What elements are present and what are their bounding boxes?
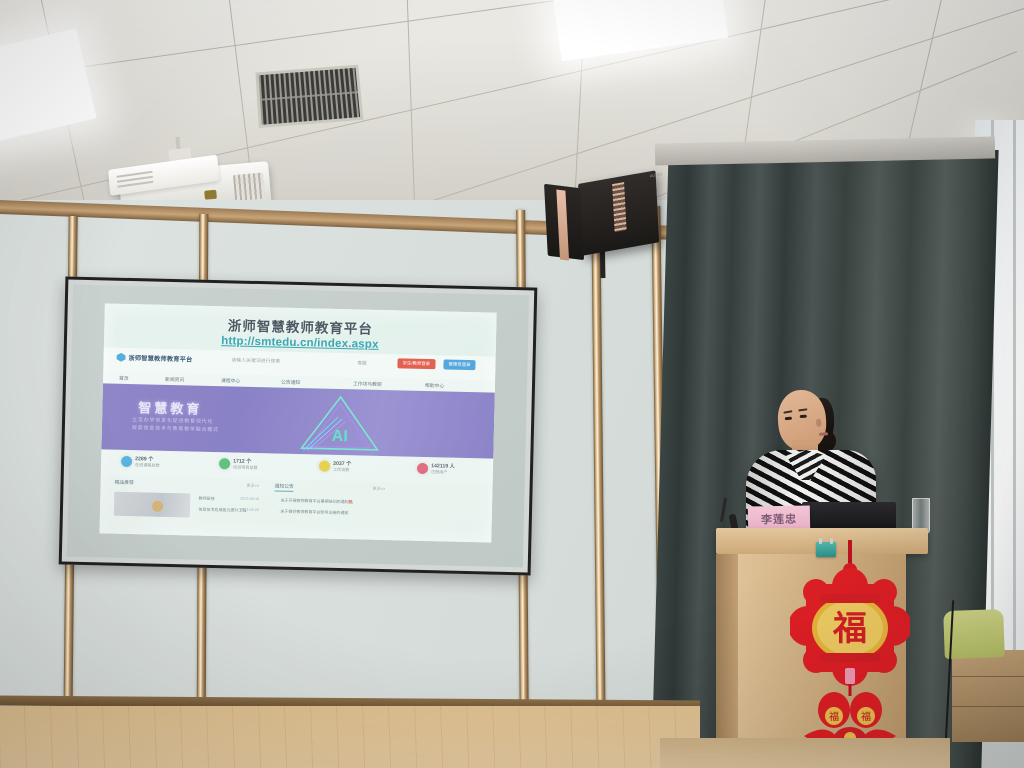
stat-item-1: 1712 个培训项目总数 [219,457,258,471]
news-text-2[interactable]: · 关于做好教师教育平台账号注册的通知 [278,509,349,517]
more-link-right[interactable]: 更多>> [372,486,385,492]
fu-character: 福 [832,609,867,649]
site-menu-item-0[interactable]: 首页 [119,374,129,381]
speaker-grille-icon [612,182,626,232]
stat-label-1: 培训项目总数 [233,464,258,471]
site-search-field[interactable]: 请输入关键词进行搜索 [231,357,280,364]
recommend-caption-1[interactable]: · 教师研修 [196,496,215,502]
notice-heading: 通知公告 [274,482,293,491]
site-logo-icon [116,353,125,362]
stat-item-3: 142119 人注册用户 [417,462,455,476]
stat-text-0: 2289 个在线课程总数 [135,455,160,469]
floor [0,706,700,768]
conference-room-scene: projector AUDIO [0,0,1024,768]
projection-screen: 浙师智慧教师教育平台 http://smtedu.cn/index.aspx 浙… [59,276,538,575]
site-lower-sections: 精品推荐 通知公告 更多>> 更多>> · 教师研修 · 信息技术应用能力提升工… [99,475,492,542]
eye-right [800,415,807,418]
stat-label-2: 工作坊数 [333,467,351,473]
wall-speaker: AUDIO [544,175,660,265]
stat-icon-0 [121,456,132,467]
window-mullion-2 [1013,120,1016,720]
hvac-vent-icon [255,65,363,128]
ai-logo-text: AI [332,428,348,445]
projector-lens-icon [204,190,217,200]
stat-text-1: 1712 个培训项目总数 [233,457,258,471]
site-admin-login-button[interactable]: 管理员登录 [443,359,475,370]
site-menu-item-1[interactable]: 新闻资讯 [165,375,184,382]
stat-text-2: 2037 个工作坊数 [333,460,351,473]
stat-text-3: 142119 人注册用户 [431,462,455,476]
fish-fu-left: 福 [829,710,839,723]
site-menu-item-2[interactable]: 课程中心 [221,377,240,384]
ceiling-grid-line-v2 [403,0,419,232]
hero-subtitle-line2: 探索信息技术与教育教学融合模式 [132,424,219,434]
news-text-1[interactable]: · 关于开展教师教育平台暑期培训的通知热 [278,498,353,506]
eyebrow-left [783,410,792,414]
news-date-2: 2023-06-09 [240,508,259,512]
site-service-label: 客服 [357,360,366,366]
screen-surface: 浙师智慧教师教育平台 http://smtedu.cn/index.aspx 浙… [67,285,529,568]
site-menu-item-4[interactable]: 工作坊与教研 [353,380,382,388]
stat-icon-3 [417,463,428,474]
hero-subtitle: 立足办学信息化促进教育现代化 探索信息技术与教育教学融合模式 [132,416,219,434]
news-hot-badge: 热 [349,499,353,504]
site-menu-item-3[interactable]: 公告通知 [281,378,300,385]
recommend-caption-2[interactable]: · 信息技术应用能力提升工程 [196,507,247,514]
site-login-button[interactable]: 学生/教师登录 [397,358,435,369]
lectern-side [716,554,740,768]
stat-item-2: 2037 个工作坊数 [319,460,351,474]
nameplate-text: 李莲忠 [761,511,797,528]
more-link-center[interactable]: 更多>> [247,483,260,489]
news-date-1: 2023-06-18 [240,497,259,501]
eyebrow-right [798,408,807,411]
hero-title: 智慧教育 [138,397,202,418]
projected-slide: 浙师智慧教师教育平台 http://smtedu.cn/index.aspx 浙… [99,303,496,542]
stat-icon-1 [219,458,230,469]
site-menu-item-5[interactable]: 帮助中心 [425,381,444,388]
fish-fu-right: 福 [861,710,871,723]
screen-frame: 浙师智慧教师教育平台 http://smtedu.cn/index.aspx 浙… [59,276,538,575]
site-logo-text: 浙师智慧教师教育平台 [128,353,192,364]
website-screenshot: 浙师智慧教师教育平台 请输入关键词进行搜索 客服 学生/教师登录 管理员登录 首… [99,347,495,542]
stat-label-3: 注册用户 [431,469,455,476]
projector-vent-icon [233,173,265,202]
site-logo: 浙师智慧教师教育平台 [116,353,192,364]
ceiling-grid-line-h0 [0,0,1024,95]
ai-triangle-logo-icon: AI [297,392,382,454]
laptop-screen[interactable] [802,502,896,530]
eye-left [785,417,792,420]
recommend-heading: 精品推荐 [115,479,134,486]
chinese-knot: 福 福 福 [790,540,910,758]
site-hero-banner: 智慧教育 立足办学信息化促进教育现代化 探索信息技术与教育教学融合模式 [101,383,494,458]
cardboard-boxes [952,650,1024,742]
stat-item-0: 2289 个在线课程总数 [121,455,160,469]
stat-label-0: 在线课程总数 [135,462,160,469]
wall-trim-strip-4 [591,208,605,730]
nose [816,419,822,427]
floor-right [660,738,950,768]
stat-icon-2 [319,461,330,472]
